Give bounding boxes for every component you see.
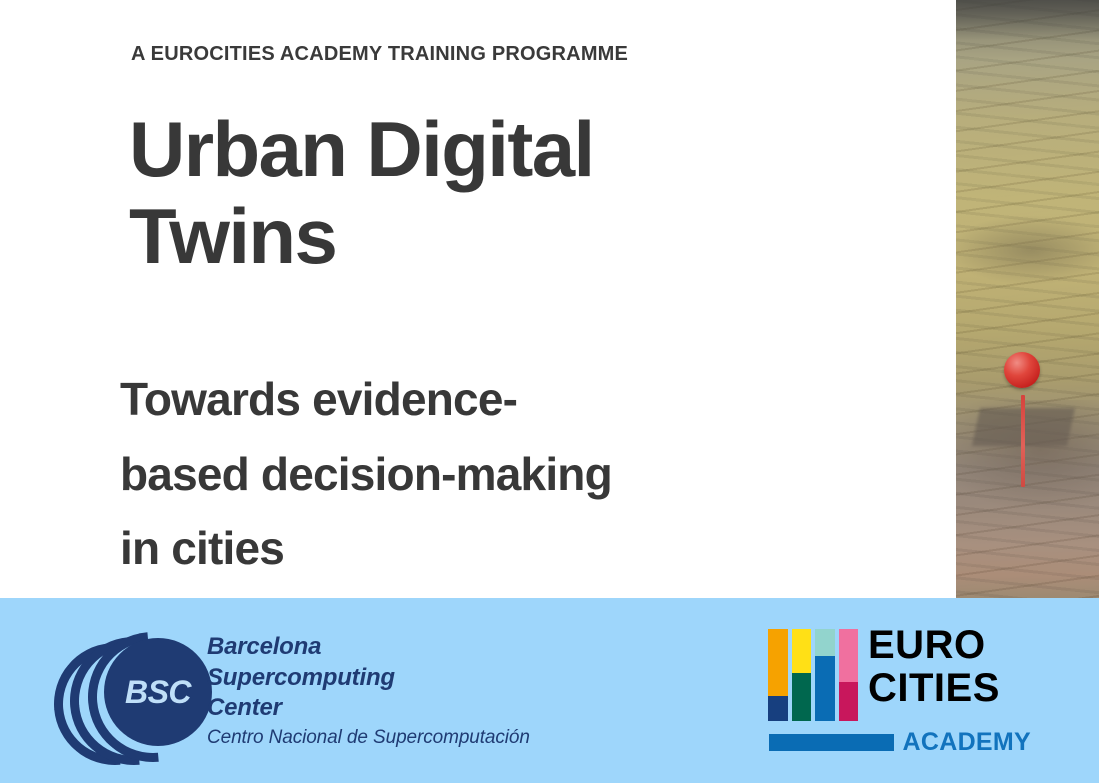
footer-bar: BSC Barcelona Supercomputing Center Cent…: [0, 598, 1099, 783]
page-title-line-1: Urban Digital: [129, 106, 749, 193]
bar-column-1-segment-2: [768, 696, 788, 721]
bsc-wordmark-subtitle: Centro Nacional de Supercomputación: [207, 727, 607, 749]
eurocities-wordmark-line-2: CITIES: [868, 667, 1000, 710]
page-title-line-2: Twins: [129, 193, 749, 280]
bar-column-2-segment-2: [792, 673, 812, 721]
slide-canvas: A EUROCITIES ACADEMY TRAINING PROGRAMME …: [0, 0, 1099, 783]
page-subtitle-line-1: Towards evidence-: [120, 362, 760, 437]
eurocities-bars-icon: [768, 629, 858, 721]
bar-column-2-segment-1: [792, 629, 812, 673]
bar-column-4: [839, 629, 859, 721]
bar-column-3: [815, 629, 835, 721]
map-pin: [956, 0, 1099, 598]
bar-column-1: [768, 629, 788, 721]
bar-column-2: [792, 629, 812, 721]
bsc-wordmark-line-2: Supercomputing: [207, 663, 607, 694]
bar-column-3-segment-1: [815, 629, 835, 656]
eyebrow-label: A EUROCITIES ACADEMY TRAINING PROGRAMME: [131, 43, 628, 66]
aerial-map-image: [956, 0, 1099, 598]
eurocities-rule: [769, 734, 894, 751]
eurocities-wordmark-line-1: EURO: [868, 624, 1000, 667]
page-title: Urban Digital Twins: [129, 106, 749, 281]
page-subtitle-line-2: based decision-making: [120, 437, 760, 512]
bar-column-3-segment-2: [815, 656, 835, 721]
eurocities-academy-row: ACADEMY: [769, 730, 1031, 754]
bar-column-4-segment-2: [839, 682, 859, 721]
bsc-wordmark-line-3: Center: [207, 693, 607, 724]
map-pin-head-icon: [1004, 352, 1040, 388]
bar-column-1-segment-1: [768, 629, 788, 696]
bar-column-4-segment-1: [839, 629, 859, 682]
bsc-abbreviation: BSC: [104, 638, 212, 746]
bsc-logo: BSC Barcelona Supercomputing Center Cent…: [52, 626, 572, 758]
bsc-wordmark: Barcelona Supercomputing Center Centro N…: [207, 632, 607, 749]
bsc-logo-mark-icon: BSC: [52, 626, 202, 758]
page-subtitle-line-3: in cities: [120, 511, 760, 586]
map-pin-needle: [1021, 395, 1025, 487]
eurocities-wordmark: EURO CITIES: [868, 624, 1000, 710]
eurocities-academy-label: ACADEMY: [903, 728, 1032, 757]
bsc-wordmark-line-1: Barcelona: [207, 632, 607, 663]
page-subtitle: Towards evidence- based decision-making …: [120, 362, 760, 586]
eurocities-academy-logo: EURO CITIES ACADEMY: [768, 624, 1036, 754]
